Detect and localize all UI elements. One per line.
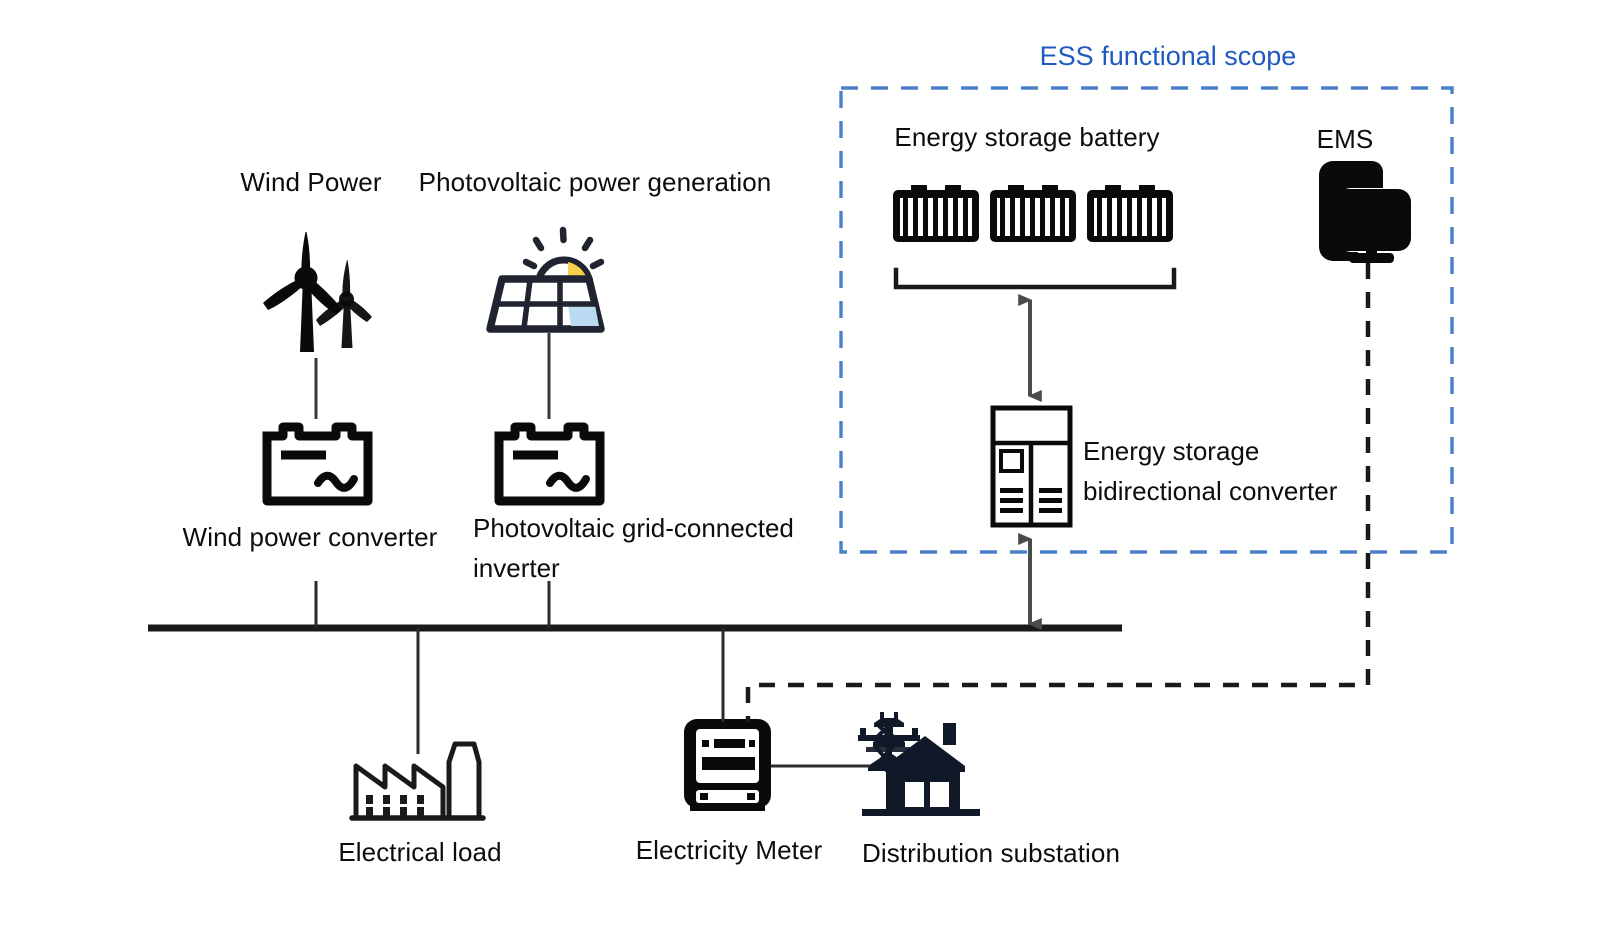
wind-converter-icon — [267, 427, 368, 501]
ess-scope-title: ESS functional scope — [1040, 41, 1297, 72]
label-pv-inverter-line1: Photovoltaic grid-connected — [473, 508, 794, 548]
diagram-canvas: ESS functional scope Wind Power Photovol… — [0, 0, 1599, 926]
label-pv-generation: Photovoltaic power generation — [419, 166, 772, 199]
label-ems: EMS — [1317, 123, 1374, 156]
solar-panel-icon — [490, 230, 601, 329]
label-wind-power: Wind Power — [240, 166, 381, 199]
label-pv-inverter-line2: inverter — [473, 548, 794, 588]
factory-icon — [352, 744, 483, 818]
label-wind-converter: Wind power converter — [183, 521, 438, 554]
label-distribution-substation: Distribution substation — [862, 837, 1120, 870]
label-pv-inverter: Photovoltaic grid-connected inverter — [473, 508, 794, 588]
computer-monitor-icon — [1319, 161, 1411, 263]
meter-icon — [684, 719, 771, 811]
pv-inverter-icon — [499, 427, 600, 501]
label-ess-converter-line1: Energy storage — [1083, 431, 1337, 471]
substation-icon — [858, 712, 980, 816]
battery-bracket — [896, 270, 1174, 287]
label-ess-battery: Energy storage battery — [894, 121, 1159, 154]
battery-bank-icon — [893, 185, 1173, 242]
label-ess-converter: Energy storage bidirectional converter — [1083, 431, 1337, 511]
label-electrical-load: Electrical load — [338, 836, 501, 869]
label-ess-converter-line2: bidirectional converter — [1083, 471, 1337, 511]
label-electricity-meter: Electricity Meter — [636, 834, 823, 867]
cabinet-converter-icon — [993, 408, 1070, 525]
wind-turbine-icon — [263, 232, 372, 352]
